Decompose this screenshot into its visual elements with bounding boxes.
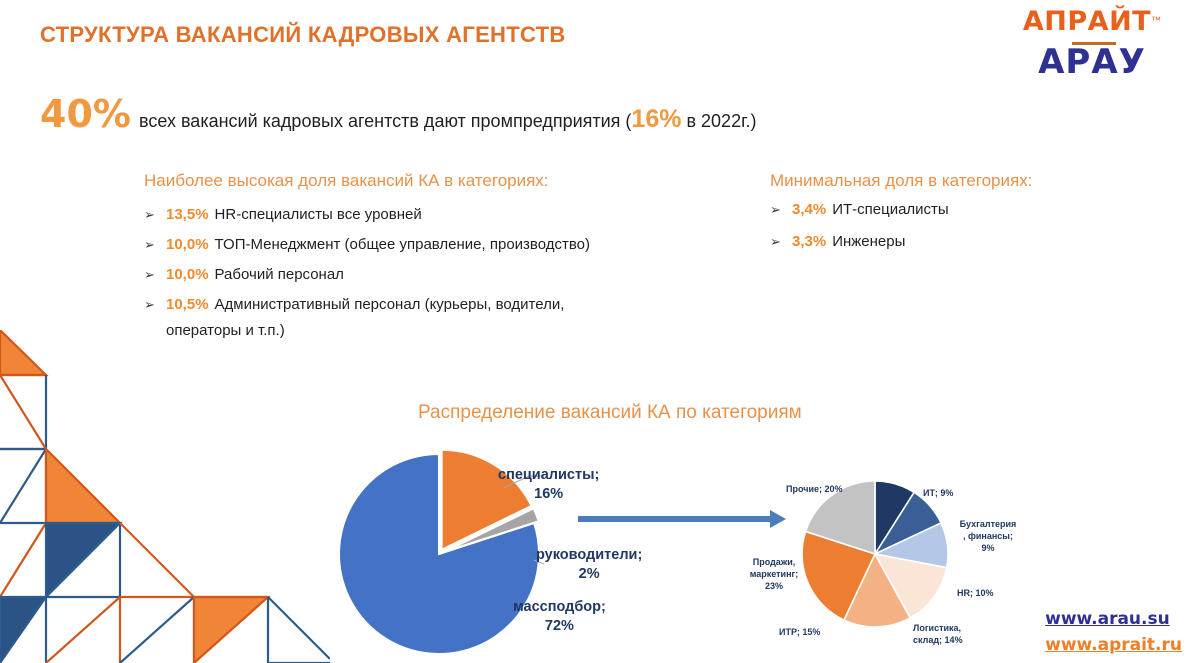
pie2-label-accounting-l1: Бухгалтерия [960,519,1017,529]
list-item-label: Рабочий персонал [215,265,344,284]
chevron-right-icon: ➢ [144,265,166,284]
right-column-heading: Минимальная доля в категориях: [770,171,1032,191]
pie2-label-hr: HR; 10% [957,587,994,599]
list-item-label: ИТ-специалисты [832,200,949,219]
pie1-label-specialists-value: 16% [534,486,563,502]
pie1-label-specialists-name: специалисты; [498,467,599,483]
pie-chart-categories [800,478,950,630]
pie2-label-it: ИТ; 9% [923,487,953,499]
right-column-bullets: ➢ 3,4% ИТ-специалисты ➢ 3,3% Инженеры [770,200,1100,264]
chevron-right-icon: ➢ [144,295,166,314]
list-item: ➢ 10,0% Рабочий персонал [144,265,724,284]
list-item: ➢ 10,0% ТОП-Менеджмент (общее управление… [144,235,724,254]
list-item: ➢ 13,5% HR-специалисты все уровней [144,205,724,224]
logo-brand-text: АПРАЙТ [1023,6,1151,37]
list-item-label: HR-специалисты все уровней [215,205,422,224]
lead-text-after: в 2022г.) [681,111,756,131]
pie2-label-sales: Продажи, маркетинг; 23% [745,556,803,592]
list-item-percent: 3,4% [792,200,826,219]
chevron-right-icon: ➢ [770,232,792,251]
pie1-label-managers-name: руководители; [536,547,642,563]
chevron-right-icon: ➢ [770,200,792,219]
pie1-label-managers: руководители; 2% [536,546,642,584]
lead-headline-number: 40% [40,92,131,136]
page-title: СТРУКТУРА ВАКАНСИЙ КАДРОВЫХ АГЕНТСТВ [40,22,566,48]
pie2-label-logistics-l1: Логистика, [913,623,961,633]
list-item-label: Административный персонал (курьеры, води… [215,295,565,314]
left-column-heading: Наиболее высокая доля вакансий КА в кате… [144,171,549,191]
list-item-percent: 10,5% [166,295,209,314]
chevron-right-icon: ➢ [144,235,166,254]
pie2-label-sales-l2: маркетинг; [750,569,799,579]
pie2-label-accounting-l2: , финансы; [963,531,1013,541]
pie1-label-specialists: специалисты; 16% [498,466,599,504]
list-item: ➢ 3,3% Инженеры [770,232,1100,251]
pie2-label-sales-l3: 23% [765,581,783,591]
list-item-percent: 13,5% [166,205,209,224]
pie1-label-managers-value: 2% [579,566,600,582]
pie1-label-mass-value: 72% [545,618,574,634]
lead-statement: 40%всех вакансий кадровых агентств дают … [40,92,756,136]
lead-text-before: всех вакансий кадровых агентств дают про… [139,111,631,131]
trademark-icon: ™ [1151,16,1161,27]
logo: АПРАЙТ™ АРАУ [1002,6,1182,82]
link-arau[interactable]: www.arau.su [1045,609,1182,629]
list-item-label: ТОП-Менеджмент (общее управление, произв… [215,235,590,254]
logo-rule-divider [1072,42,1116,45]
pie2-label-accounting-l3: 9% [981,543,994,553]
decorative-triangle-pattern [0,330,330,663]
list-item: ➢ 3,4% ИТ-специалисты [770,200,1100,219]
pie2-label-itr: ИТР; 15% [779,626,820,638]
chart-section-title: Распределение вакансий КА по категориям [418,402,802,424]
link-aprait[interactable]: www.aprait.ru [1045,635,1182,655]
pie1-label-mass: массподбор; 72% [513,598,606,636]
pie2-label-sales-l1: Продажи, [753,557,795,567]
lead-inline-number: 16% [631,105,681,133]
list-item-percent: 3,3% [792,232,826,251]
list-item-continuation: операторы и т.п.) [166,321,724,340]
pie2-label-accounting: Бухгалтерия , финансы; 9% [950,518,1026,554]
logo-brand-row: АПРАЙТ™ [1002,6,1182,40]
list-item-percent: 10,0% [166,235,209,254]
pie2-label-other: Прочие; 20% [786,483,843,495]
transition-arrow-icon [578,508,788,530]
list-item-percent: 10,0% [166,265,209,284]
pie2-label-logistics-l2: склад; 14% [913,635,963,645]
pie2-label-logistics: Логистика, склад; 14% [913,622,963,646]
pie1-label-mass-name: массподбор; [513,599,606,615]
footer-urls: www.arau.su www.aprait.ru [1045,609,1182,655]
left-column-bullets: ➢ 13,5% HR-специалисты все уровней ➢ 10,… [144,205,724,340]
chevron-right-icon: ➢ [144,205,166,224]
list-item-label: Инженеры [832,232,905,251]
slide: СТРУКТУРА ВАКАНСИЙ КАДРОВЫХ АГЕНТСТВ АПР… [0,0,1200,663]
list-item: ➢ 10,5% Административный персонал (курье… [144,295,724,314]
